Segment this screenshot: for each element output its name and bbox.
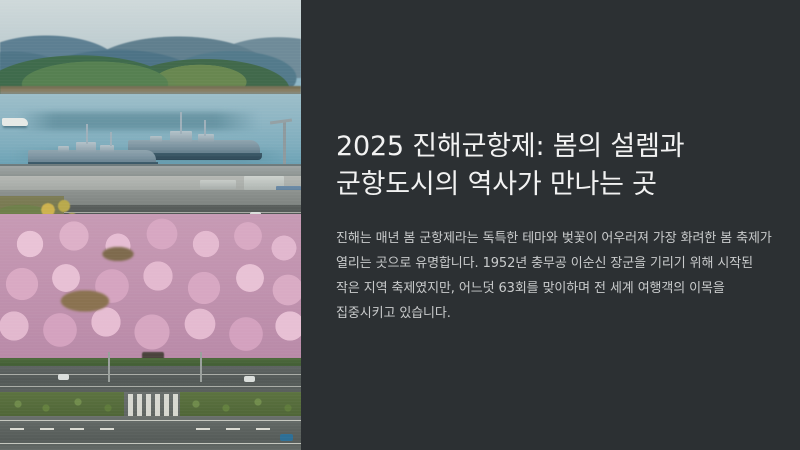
highway-edge-line (0, 443, 301, 444)
dock-building (200, 180, 236, 189)
crosswalk-stripe (155, 394, 160, 416)
highway-dash (256, 428, 270, 430)
middle-road (0, 366, 301, 394)
ship-a-bridge (58, 146, 69, 152)
road-lane-line (0, 386, 301, 387)
grove-clearing (96, 244, 140, 264)
ship-a-mast (86, 124, 88, 144)
body-paragraph: 진해는 매년 봄 군항제라는 독특한 테마와 벚꽃이 어우러져 가장 화려한 봄… (336, 204, 776, 326)
slide-canvas: 2025 진해군항제: 봄의 설렘과 군항도시의 역사가 만나는 곳 진해는 매… (0, 0, 800, 450)
crosswalk-stripe (164, 394, 169, 416)
ship-a-funnel (100, 145, 114, 152)
grove-clearing (52, 286, 118, 316)
street-lamp (108, 352, 110, 382)
crosswalk-stripe (128, 394, 133, 416)
highway-dash (70, 428, 84, 430)
highway-dash (100, 428, 114, 430)
page-title: 2025 진해군항제: 봄의 설렘과 군항도시의 역사가 만나는 곳 (336, 128, 776, 204)
crosswalk-stripe (173, 394, 178, 416)
ship-a-radar-mast (110, 132, 112, 146)
highway-dash (40, 428, 54, 430)
cherry-blossom-grove (0, 214, 301, 360)
highway-dash (196, 428, 210, 430)
ship-b-radar-mast (204, 120, 206, 136)
main-highway (0, 416, 301, 450)
ship-b-funnel (198, 134, 214, 142)
highway-dash (226, 428, 240, 430)
ship-b-bridge (150, 136, 162, 142)
ship-b-mast (180, 112, 182, 134)
highway-dash (10, 428, 24, 430)
small-boat-icon (2, 118, 28, 126)
road-lane-line (0, 374, 301, 375)
crosswalk-stripe (146, 394, 151, 416)
car (244, 376, 255, 382)
car-blue (280, 434, 293, 441)
street-lamp (200, 352, 202, 382)
harbor-crane (283, 120, 286, 168)
jinhae-aerial-photo (0, 0, 301, 450)
copy-block: 2025 진해군항제: 봄의 설렘과 군항도시의 역사가 만나는 곳 진해는 매… (336, 128, 776, 326)
text-panel: 2025 진해군항제: 봄의 설렘과 군항도시의 역사가 만나는 곳 진해는 매… (301, 0, 800, 450)
car (58, 374, 69, 380)
water-ripple (0, 112, 301, 130)
highway-edge-line (0, 420, 301, 421)
crosswalk-stripe (137, 394, 142, 416)
headland-highlight (0, 40, 301, 92)
